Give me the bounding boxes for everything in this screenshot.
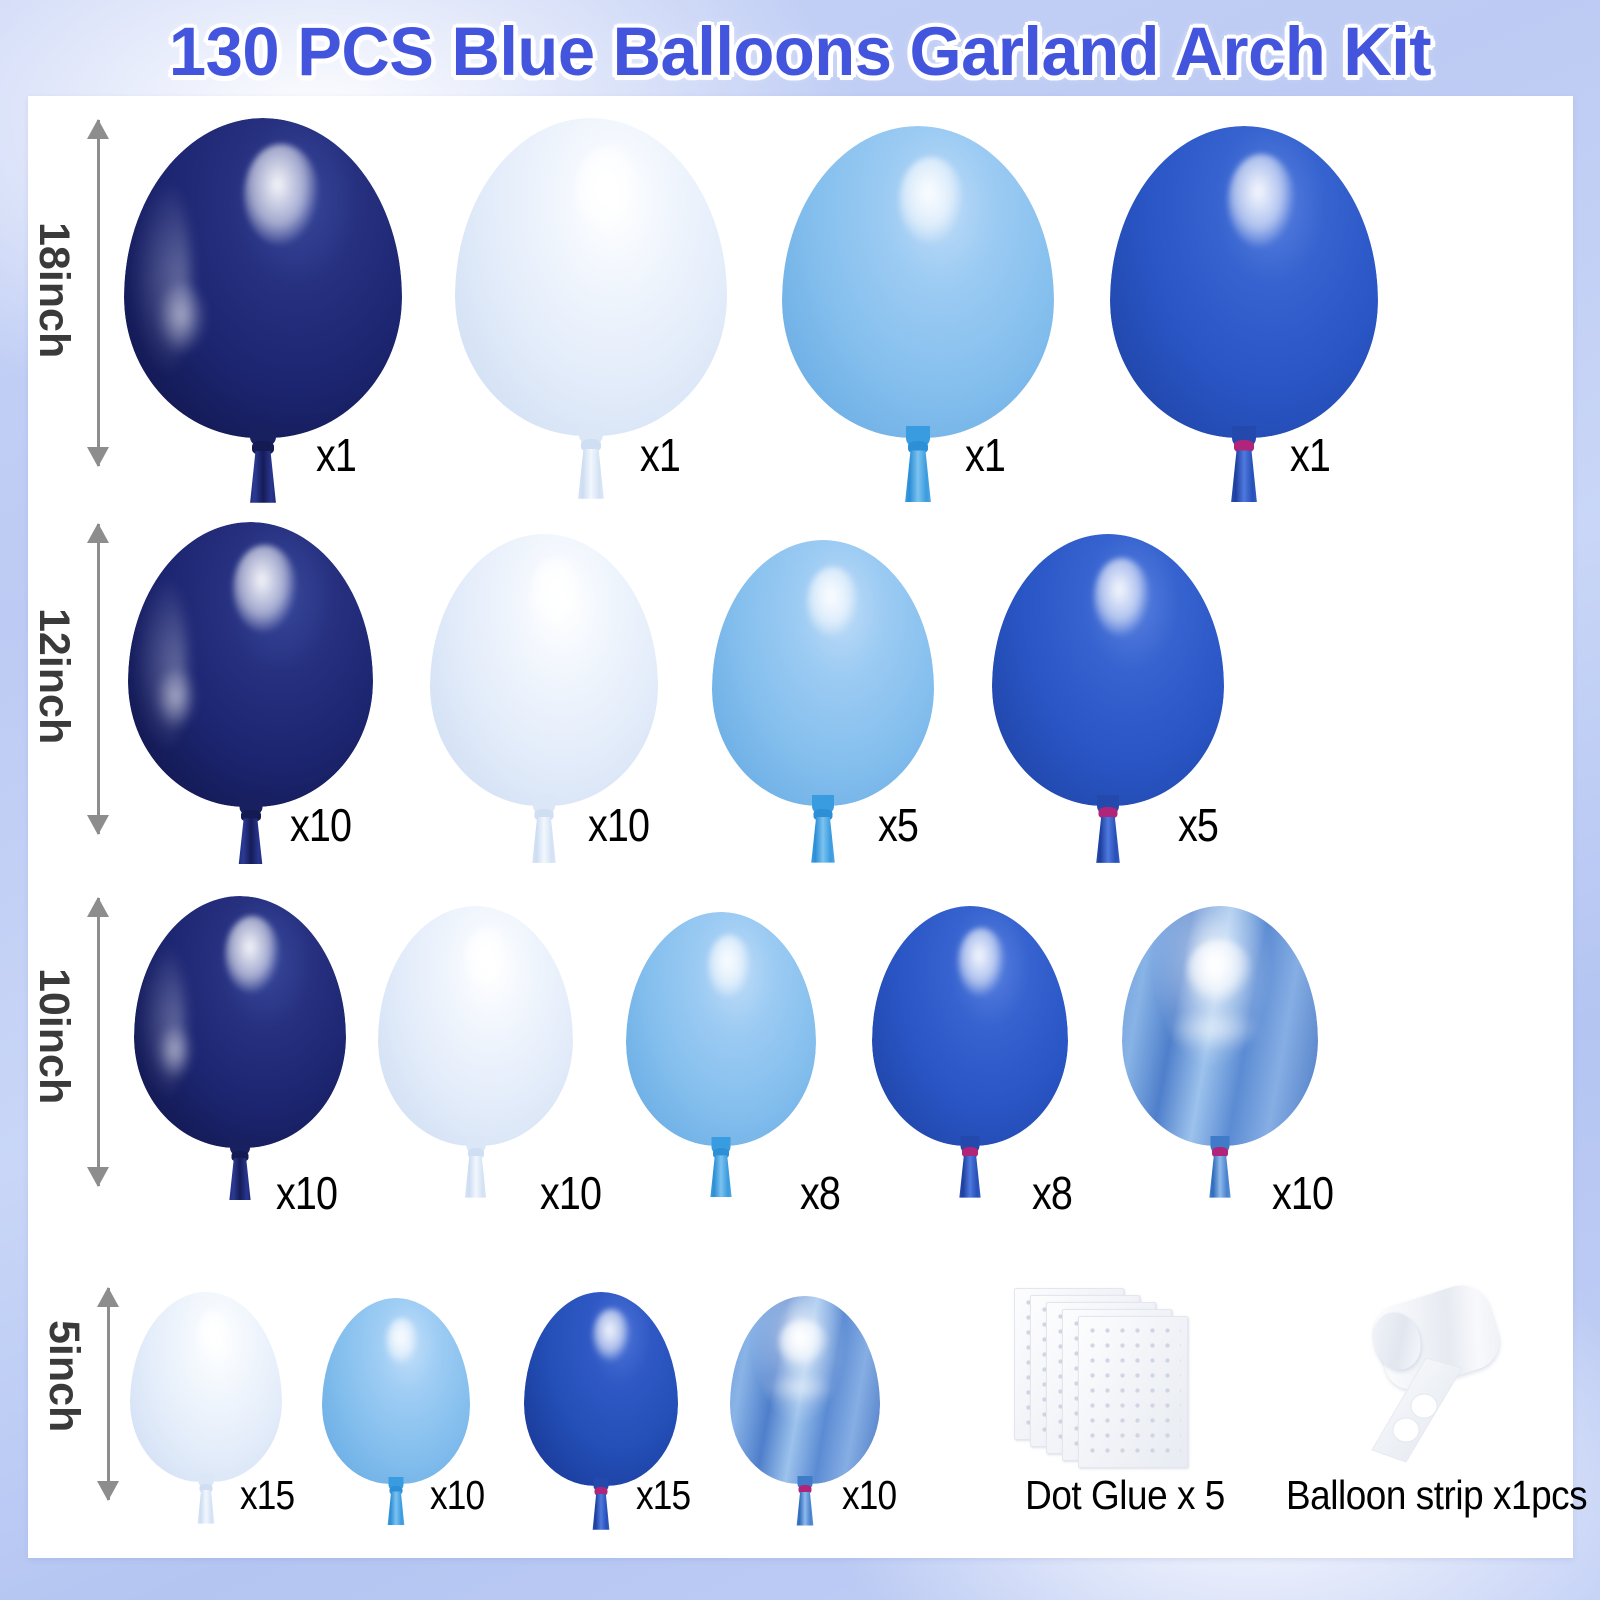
balloon-shape [430,534,658,806]
quantity-label: x10 [540,1166,601,1220]
strip-tail-icon [1366,1358,1486,1468]
balloon-5inch-royal-blue [524,1292,678,1486]
balloon-highlight [593,1309,630,1361]
balloon-highlight [1187,940,1254,1002]
balloon-soft-highlight [155,670,197,730]
balloon-highlight [807,567,858,639]
quantity-label: x10 [430,1472,484,1519]
balloon-highlight [778,1320,829,1365]
balloon-highlight [575,147,640,236]
balloon-highlight [1094,558,1150,637]
quantity-label: x8 [1032,1166,1072,1220]
quantity-label: x10 [842,1472,896,1519]
balloon-strip-label: Balloon strip x1pcs [1286,1472,1574,1519]
balloon-soft-highlight [157,284,207,354]
arrow-head-down [87,1167,109,1187]
balloon-soft-highlight [763,1375,835,1403]
balloon-highlight [244,144,319,246]
balloon-shape [134,896,346,1148]
arrow-head-down [87,815,109,835]
dimension-arrow-18inch [86,120,110,466]
balloon-strip-item [1330,1288,1560,1488]
quantity-label: x1 [640,428,680,482]
balloon-shape [1122,906,1318,1146]
size-label-12inch: 12inch [29,608,78,744]
dot-glue-item [1000,1288,1250,1488]
glue-sheet [1078,1316,1188,1468]
dimension-arrow-12inch [86,524,110,834]
balloon-12inch-navy [128,522,373,807]
balloon-5inch-baby-blue [130,1292,282,1482]
arrow-line [107,1288,110,1500]
quantity-label: x15 [240,1472,294,1519]
quantity-label: x1 [316,428,356,482]
balloon-12inch-royal-blue [992,534,1224,806]
balloon-highlight [958,928,1005,998]
quantity-label: x1 [1290,428,1330,482]
balloon-highlight [464,928,509,993]
size-label-5inch: 5inch [39,1320,88,1432]
balloon-12inch-sky-blue [712,540,934,806]
balloon-shape [872,906,1068,1146]
balloon-shape [712,540,934,806]
balloon-18inch-sky-blue [782,126,1054,438]
balloon-highlight [530,558,582,631]
arrow-line [97,524,100,834]
arrow-line [97,120,100,466]
dot-glue-label: Dot Glue x 5 [990,1472,1260,1519]
balloon-soft-highlight [1165,1012,1263,1050]
balloon-18inch-baby-blue [455,118,727,436]
balloon-shape [992,534,1224,806]
balloon-highlight [899,157,964,244]
balloon-highlight [1228,154,1295,248]
balloon-shape [322,1298,470,1484]
balloon-highlight [233,545,297,633]
balloon-18inch-navy [124,118,402,438]
arrow-line [97,898,100,1186]
quantity-label: x10 [588,798,649,852]
size-label-18inch: 18inch [29,222,78,358]
quantity-label: x15 [636,1472,690,1519]
balloon-shape [130,1292,282,1482]
balloon-18inch-royal-blue [1110,126,1378,438]
balloon-highlight [708,935,752,998]
balloon-shape [782,126,1054,438]
balloon-5inch-chrome-blue [730,1296,880,1484]
balloon-shape [455,118,727,436]
balloon-10inch-sky-blue [626,912,816,1146]
balloon-5inch-sky-blue [322,1298,470,1484]
arrow-head-down [87,447,109,467]
quantity-label: x1 [965,428,1005,482]
arrow-head-up [87,119,109,139]
glue-dots [1085,1323,1181,1461]
balloon-highlight [386,1318,419,1365]
size-label-10inch: 10inch [29,968,78,1104]
arrow-head-up [87,897,109,917]
quantity-label: x8 [800,1166,840,1220]
page-title: 130 PCS Blue Balloons Garland Arch Kit [24,10,1576,94]
balloon-10inch-royal-blue [872,906,1068,1146]
balloon-shape [730,1296,880,1484]
balloon-shape [378,906,573,1146]
dimension-arrow-5inch [96,1288,120,1500]
arrow-head-up [87,523,109,543]
balloon-shape [1110,126,1378,438]
arrow-head-down [97,1481,119,1501]
balloon-shape [128,522,373,807]
quantity-label: x5 [1178,798,1218,852]
balloon-shape [124,118,402,438]
quantity-label: x10 [276,1166,337,1220]
arrow-head-up [97,1287,119,1307]
product-infographic: 130 PCS Blue Balloons Garland Arch Kit 1… [0,0,1600,1600]
quantity-label: x10 [290,798,351,852]
balloon-shape [524,1292,678,1486]
balloon-12inch-baby-blue [430,534,658,806]
quantity-label: x5 [878,798,918,852]
quantity-label: x10 [1272,1166,1333,1220]
balloon-highlight [197,1311,230,1359]
balloon-10inch-navy [134,896,346,1148]
dimension-arrow-10inch [86,898,110,1186]
balloon-shape [626,912,816,1146]
balloon-10inch-chrome-blue [1122,906,1318,1146]
balloon-10inch-baby-blue [378,906,573,1146]
